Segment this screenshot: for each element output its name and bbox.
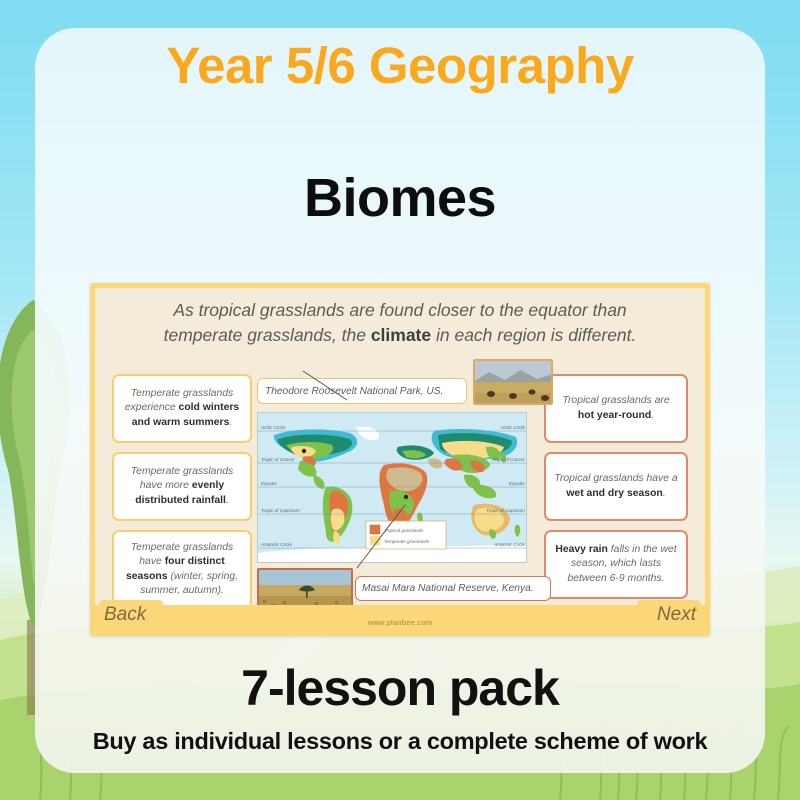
slide-intro-line2-pre: temperate grasslands, the [164,325,371,345]
fact-text-bold: Heavy rain [555,544,608,555]
pack-label: 7-lesson pack [0,659,800,717]
svg-text:Tropic of Capricorn: Tropic of Capricorn [261,508,300,513]
fact-card[interactable]: Temperate grasslands have four distinct … [112,530,252,609]
slide-intro-line2-post: in each region is different. [431,325,636,345]
fact-text-pre: Tropical grasslands are [562,395,669,406]
page-title-topic: Biomes [0,167,800,229]
slide-intro-line1: As tropical grasslands are found closer … [173,300,626,320]
fact-card[interactable]: Tropical grasslands are hot year-round. [544,374,688,443]
next-button[interactable]: Next [637,600,701,630]
slide-footer-url: www.planbee.com [95,618,705,627]
fact-card[interactable]: Temperate grasslands experience cold win… [112,374,252,443]
svg-text:Arctic Circle: Arctic Circle [260,425,286,430]
slide-intro-text: As tropical grasslands are found closer … [117,298,683,349]
map-and-photos: Theodore Roosevelt National Park, US. [257,372,553,411]
fact-text-post: . [651,410,654,421]
svg-text:Equator: Equator [261,481,278,486]
svg-text:Tropic of Capricorn: Tropic of Capricorn [486,508,525,513]
slide-preview[interactable]: As tropical grasslands are found closer … [90,283,710,636]
slide-navigation-bar: www.planbee.com [95,605,705,631]
fact-card[interactable]: Tropical grasslands have a wet and dry s… [544,452,688,521]
page-title-year: Year 5/6 Geography [0,36,800,95]
tropical-facts-column: Tropical grasslands are hot year-round. … [544,374,688,608]
fact-text-post: . [229,417,232,428]
slide-intro-keyword: climate [371,325,431,345]
svg-text:Antarctic Circle: Antarctic Circle [260,542,292,547]
photo-caption-top: Theodore Roosevelt National Park, US. [257,378,467,404]
svg-text:Equator: Equator [509,481,526,486]
world-biome-map: Arctic Circle Tropic of Cancer Equator T… [257,412,527,563]
svg-text:Tropic of Cancer: Tropic of Cancer [261,457,295,462]
fact-text-post: . [663,488,666,499]
svg-text:Arctic Circle: Arctic Circle [499,425,525,430]
svg-text:Temperate grasslands: Temperate grasslands [384,539,430,544]
fact-card[interactable]: Temperate grasslands have more evenly di… [112,452,252,521]
back-button[interactable]: Back [99,600,163,630]
svg-text:Tropical grasslands: Tropical grasslands [384,528,424,533]
svg-text:Antarctic Circle: Antarctic Circle [493,542,525,547]
svg-text:Tropic of Cancer: Tropic of Cancer [491,457,525,462]
fact-text-bold: wet and dry season [566,488,662,499]
pack-subtitle: Buy as individual lessons or a complete … [0,728,800,755]
fact-text-post: . [226,495,229,506]
fact-text-bold: hot year-round [578,410,651,421]
photo-row-top: Theodore Roosevelt National Park, US. [257,372,553,411]
photo-caption-bottom: Masai Mara National Reserve, Kenya. [355,576,551,601]
fact-card[interactable]: Heavy rain falls in the wet season, whic… [544,530,688,599]
photo-theodore-roosevelt [473,359,553,405]
temperate-facts-column: Temperate grasslands experience cold win… [112,374,252,618]
fact-text-pre: Tropical grasslands have a [554,473,677,484]
